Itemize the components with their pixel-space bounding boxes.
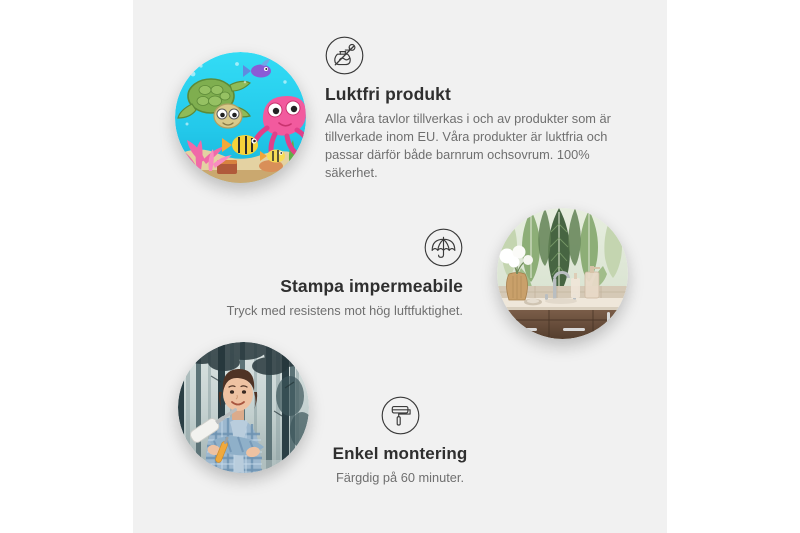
photo-woman-with-paint-roller-forest <box>178 342 309 473</box>
feature-body-waterproof: Tryck med resistens mot hög luftfuktighe… <box>198 302 463 320</box>
feature-icon-wrap <box>325 36 625 75</box>
feature-title-assembly: Enkel montering <box>300 444 500 464</box>
paint-roller-icon <box>381 396 420 435</box>
feature-body-odourless: Alla våra tavlor tillverkas i och av pro… <box>325 110 625 183</box>
no-fragrance-spray-icon <box>325 36 364 75</box>
promo-banner: Luktfri produkt Alla våra tavlor tillver… <box>0 0 800 533</box>
feature-block-assembly: Enkel montering Färgdig på 60 minuter. <box>300 396 500 488</box>
feature-block-waterproof: Stampa impermeabile Tryck med resistens … <box>198 228 463 320</box>
feature-body-assembly: Färgdig på 60 minuter. <box>300 469 500 487</box>
umbrella-icon <box>424 228 463 267</box>
feature-icon-wrap <box>198 228 463 267</box>
feature-block-odourless: Luktfri produkt Alla våra tavlor tillver… <box>325 36 625 183</box>
photo-bathroom-leaf-wallpaper <box>497 208 628 339</box>
feature-title-waterproof: Stampa impermeabile <box>198 276 463 297</box>
photo-underwater-kids-illustration <box>175 52 306 183</box>
feature-icon-wrap <box>300 396 500 435</box>
feature-title-odourless: Luktfri produkt <box>325 84 625 105</box>
